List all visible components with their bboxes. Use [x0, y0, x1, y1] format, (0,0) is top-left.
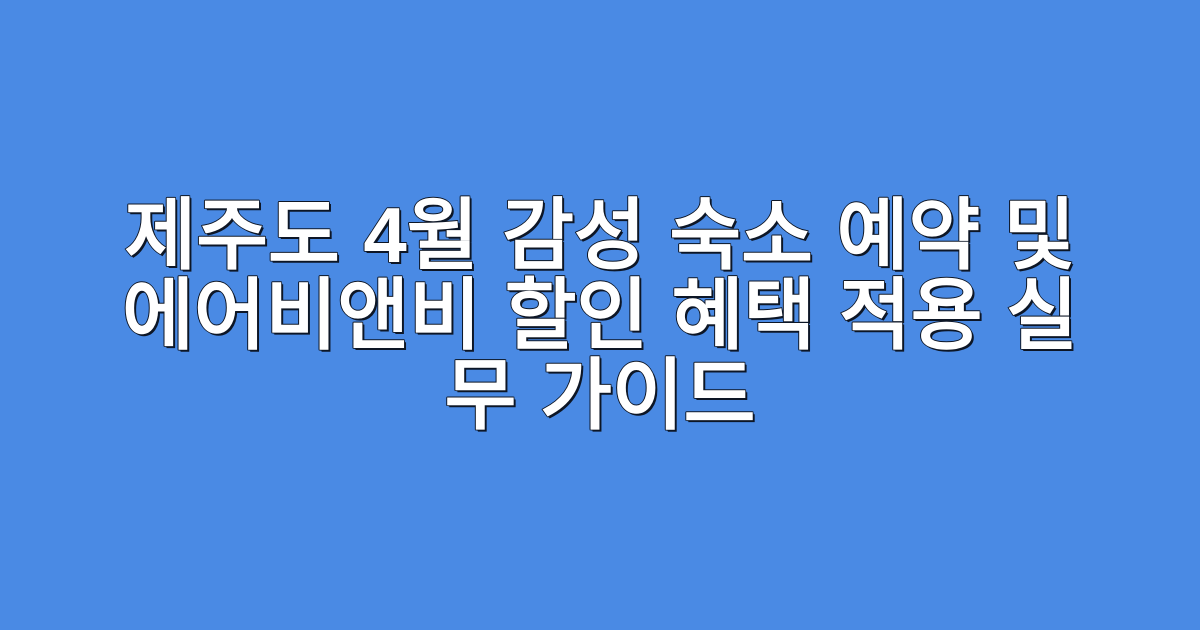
page-title: 제주도 4월 감성 숙소 예약 및 에어비앤비 할인 혜택 적용 실무 가이드: [95, 195, 1105, 435]
og-card: 제주도 4월 감성 숙소 예약 및 에어비앤비 할인 혜택 적용 실무 가이드: [0, 0, 1200, 630]
